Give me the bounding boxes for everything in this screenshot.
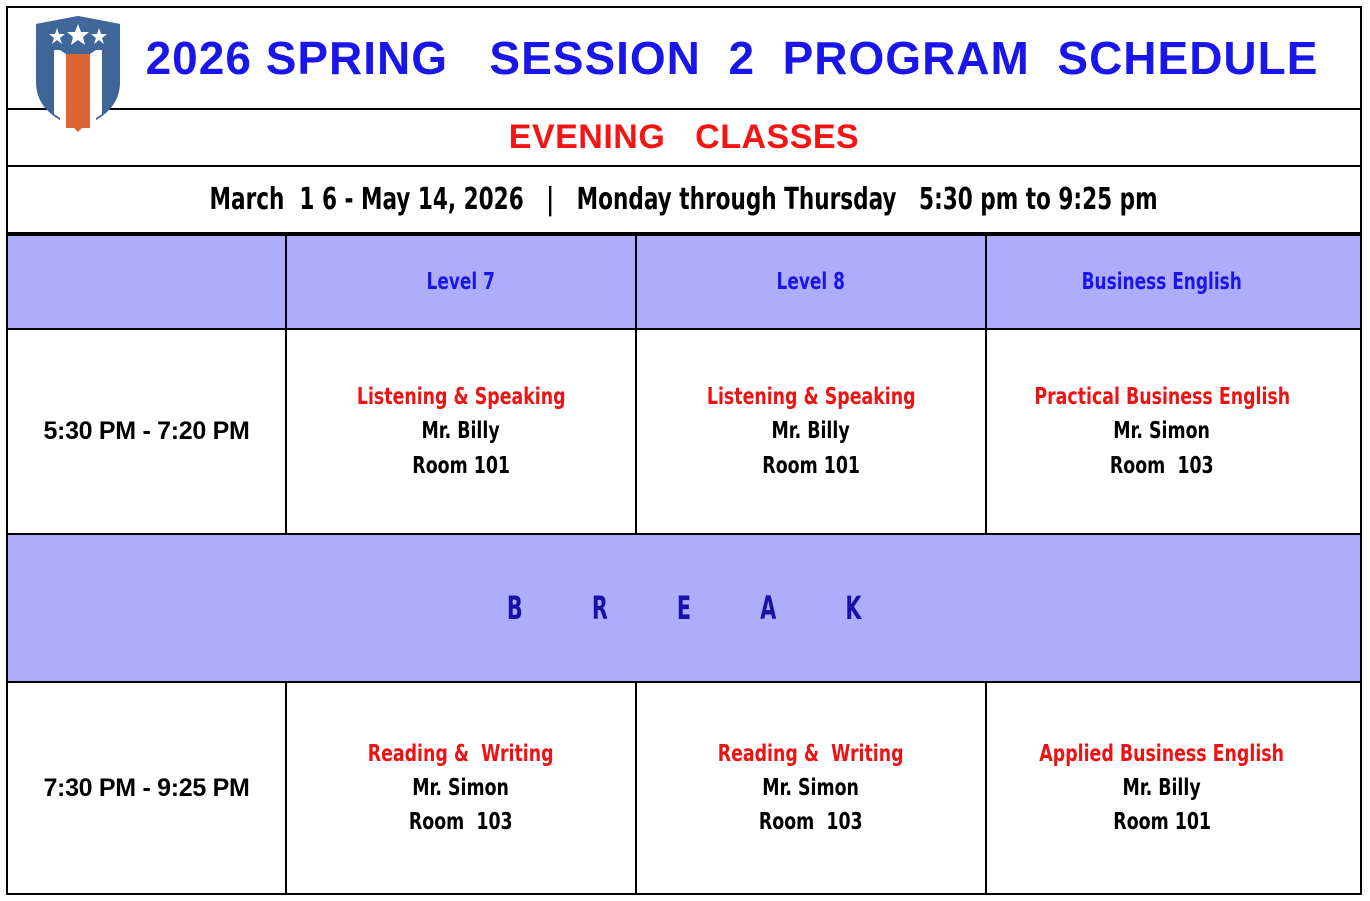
course-room: Room 101: [1113, 805, 1211, 839]
page-title: 2026 SPRING SESSION 2 PROGRAM SCHEDULE: [8, 31, 1360, 85]
header-cell-blank: [8, 236, 285, 328]
table-row-break: BREAK: [8, 533, 1360, 681]
table-row-first-period: 5:30 PM - 7:20 PM Listening & Speaking M…: [8, 328, 1360, 533]
schedule-sheet: 2026 SPRING SESSION 2 PROGRAM SCHEDULE E…: [0, 0, 1370, 901]
header-cell-level7: Level 7: [285, 236, 635, 328]
course-title: Listening & Speaking: [707, 380, 916, 414]
course-teacher: Mr. Simon: [763, 771, 860, 805]
class-cell-business-second: Applied Business English Mr. Billy Room …: [985, 683, 1337, 893]
header-cell-business-english: Business English: [985, 236, 1337, 328]
course-title: Listening & Speaking: [357, 380, 566, 414]
break-cell: BREAK: [8, 535, 1360, 681]
course-title: Applied Business English: [1040, 737, 1285, 771]
title-band: 2026 SPRING SESSION 2 PROGRAM SCHEDULE: [6, 6, 1362, 110]
course-teacher: Mr. Billy: [772, 414, 850, 448]
class-cell-level7-first: Listening & Speaking Mr. Billy Room 101: [285, 330, 635, 533]
date-range-text: March 1 6 - May 14, 2026 | Monday throug…: [210, 182, 1158, 217]
time-label: 7:30 PM - 9:25 PM: [43, 774, 249, 803]
header-label-level8: Level 8: [777, 269, 845, 295]
shield-logo-icon: [26, 10, 130, 132]
class-cell-level8-first: Listening & Speaking Mr. Billy Room 101: [635, 330, 985, 533]
course-room: Room 103: [1110, 449, 1214, 483]
time-label: 5:30 PM - 7:20 PM: [43, 417, 249, 446]
class-cell-level7-second: Reading & Writing Mr. Simon Room 103: [285, 683, 635, 893]
table-row-second-period: 7:30 PM - 9:25 PM Reading & Writing Mr. …: [8, 681, 1360, 893]
schedule-table: Level 7 Level 8 Business English 5:30 PM…: [6, 234, 1362, 895]
course-title: Practical Business English: [1034, 380, 1290, 414]
course-room: Room 103: [409, 805, 513, 839]
course-room: Room 101: [412, 449, 510, 483]
table-header-row: Level 7 Level 8 Business English: [8, 236, 1360, 328]
course-room: Room 103: [759, 805, 863, 839]
course-title: Reading & Writing: [718, 737, 904, 771]
break-label: BREAK: [438, 589, 931, 627]
course-room: Room 101: [762, 449, 860, 483]
subtitle-text: EVENING CLASSES: [509, 118, 859, 157]
header-label-level7: Level 7: [427, 269, 495, 295]
class-cell-business-first: Practical Business English Mr. Simon Roo…: [985, 330, 1337, 533]
time-cell-first-period: 5:30 PM - 7:20 PM: [8, 330, 285, 533]
course-teacher: Mr. Simon: [1114, 414, 1211, 448]
header-cell-level8: Level 8: [635, 236, 985, 328]
course-teacher: Mr. Billy: [1123, 771, 1201, 805]
time-cell-second-period: 7:30 PM - 9:25 PM: [8, 683, 285, 893]
course-title: Reading & Writing: [368, 737, 554, 771]
subtitle-band: EVENING CLASSES: [6, 110, 1362, 167]
course-teacher: Mr. Billy: [422, 414, 500, 448]
class-cell-level8-second: Reading & Writing Mr. Simon Room 103: [635, 683, 985, 893]
date-band: March 1 6 - May 14, 2026 | Monday throug…: [6, 167, 1362, 234]
header-label-business-english: Business English: [1082, 269, 1242, 295]
course-teacher: Mr. Simon: [413, 771, 510, 805]
